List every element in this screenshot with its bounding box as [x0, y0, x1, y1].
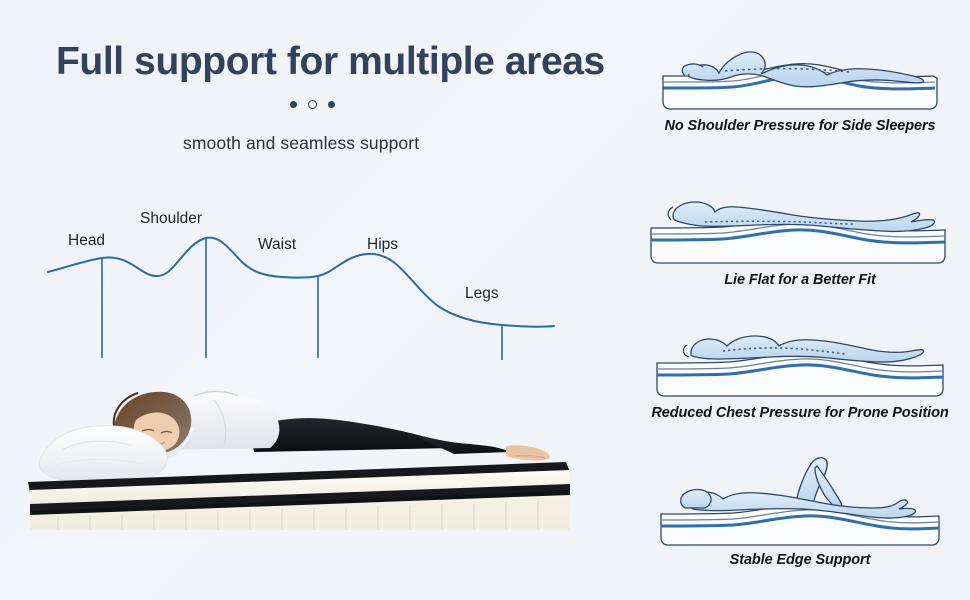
promo-page: Full support for multiple areas smooth a… [0, 0, 970, 600]
panel-caption: No Shoulder Pressure for Side Sleepers [645, 118, 955, 134]
lie-flat-illustration [645, 172, 955, 272]
zone-label-waist: Waist [258, 236, 296, 254]
panel-caption: Reduced Chest Pressure for Prone Positio… [645, 405, 955, 421]
dot-filled-icon [290, 101, 297, 108]
feature-panel-lie-flat: Lie Flat for a Better Fit [645, 172, 955, 288]
page-title: Full support for multiple areas [56, 40, 605, 84]
dot-filled-icon [328, 101, 335, 108]
dot-hollow-icon [308, 100, 317, 109]
sleeper-photo [18, 300, 578, 530]
zone-label-head: Head [68, 232, 105, 250]
panel-caption: Lie Flat for a Better Fit [645, 272, 955, 288]
zone-label-shoulder: Shoulder [140, 210, 202, 228]
feature-panel-prone: Reduced Chest Pressure for Prone Positio… [645, 305, 955, 421]
dot-separator [290, 100, 335, 109]
zone-label-hips: Hips [367, 236, 398, 254]
page-subtitle: smooth and seamless support [183, 133, 419, 154]
side-sleeper-illustration [645, 18, 955, 118]
panel-caption: Stable Edge Support [645, 552, 955, 568]
sleeper-silhouette [681, 458, 916, 518]
sleeper-photo-svg [18, 300, 578, 530]
feature-panel-edge-support: Stable Edge Support [645, 452, 955, 568]
edge-support-illustration [645, 452, 955, 552]
prone-illustration [645, 305, 955, 405]
feature-panel-side-sleeper: No Shoulder Pressure for Side Sleepers [645, 18, 955, 134]
